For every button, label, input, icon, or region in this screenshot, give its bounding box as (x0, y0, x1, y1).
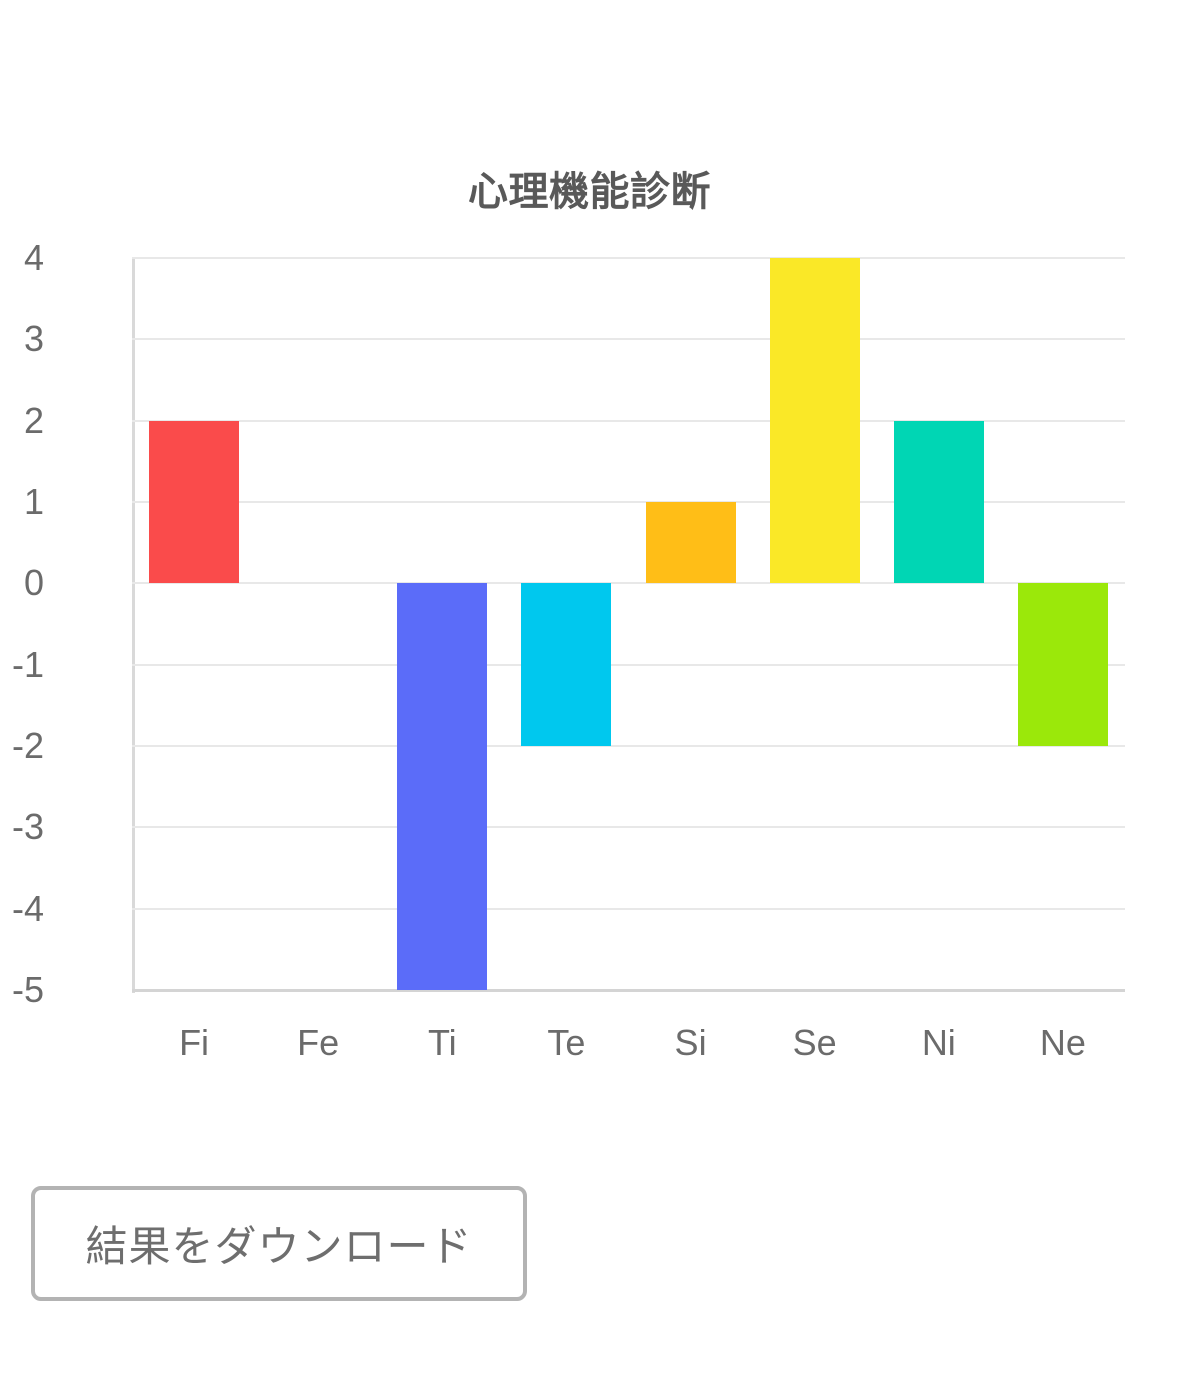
gridline (132, 826, 1125, 828)
gridline (132, 338, 1125, 340)
y-tick-label: 0 (0, 562, 44, 604)
gridline (132, 989, 1125, 992)
bar-ne[interactable] (1018, 583, 1108, 746)
gridline (132, 664, 1125, 666)
y-tick-label: -2 (0, 725, 44, 767)
y-tick-label: 4 (0, 237, 44, 279)
y-tick-label: 2 (0, 400, 44, 442)
y-tick-label: -1 (0, 644, 44, 686)
y-tick-label: -5 (0, 969, 44, 1011)
bar-ni[interactable] (894, 421, 984, 584)
bar-fi[interactable] (149, 421, 239, 584)
x-tick-label-ne: Ne (1040, 1022, 1086, 1064)
plot-area (132, 258, 1125, 990)
x-tick-label-ti: Ti (428, 1022, 457, 1064)
y-tick-label: 3 (0, 318, 44, 360)
psychological-function-chart-card: 心理機能診断 43210-1-2-3-4-5 FiFeTiTeSiSeNiNe (0, 0, 1179, 1120)
x-tick-label-se: Se (793, 1022, 837, 1064)
chart-title: 心理機能診断 (0, 168, 1179, 216)
bar-ti[interactable] (397, 583, 487, 990)
x-tick-label-te: Te (547, 1022, 585, 1064)
gridline (132, 908, 1125, 910)
x-tick-label-ni: Ni (922, 1022, 956, 1064)
bar-se[interactable] (770, 258, 860, 583)
x-tick-label-fe: Fe (297, 1022, 339, 1064)
y-tick-label: 1 (0, 481, 44, 523)
x-tick-label-si: Si (675, 1022, 707, 1064)
y-tick-label: -4 (0, 888, 44, 930)
y-tick-label: -3 (0, 806, 44, 848)
download-results-button[interactable]: 結果をダウンロード (31, 1186, 527, 1301)
x-tick-label-fi: Fi (179, 1022, 209, 1064)
bar-si[interactable] (646, 502, 736, 583)
gridline (132, 257, 1125, 259)
gridline (132, 745, 1125, 747)
bar-te[interactable] (521, 583, 611, 746)
